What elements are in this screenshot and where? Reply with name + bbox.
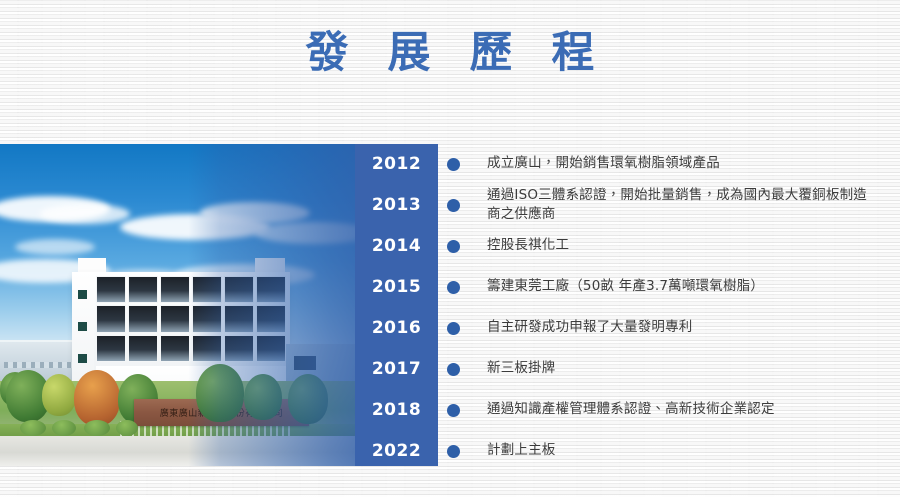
timeline-year: 2022: [355, 441, 438, 461]
bullet-dot-icon: [447, 363, 460, 376]
timeline-row-2015[interactable]: 2015 籌建東莞工廠（50畝 年產3.7萬噸環氧樹脂）: [355, 267, 900, 307]
timeline-year: 2012: [355, 154, 438, 174]
timeline-row-2012[interactable]: 2012 成立廣山，開始銷售環氧樹脂領域產品: [355, 144, 900, 184]
page-title-wrap: 發 展 歷 程: [0, 30, 900, 77]
bullet-dot-icon: [447, 445, 460, 458]
timeline-description: 成立廣山，開始銷售環氧樹脂領域產品: [487, 154, 720, 174]
bullet-dot-icon: [447, 158, 460, 171]
timeline-description: 控股長祺化工: [487, 236, 569, 256]
timeline-row-2017[interactable]: 2017 新三板掛牌: [355, 349, 900, 389]
timeline-row-2014[interactable]: 2014 控股長祺化工: [355, 226, 900, 266]
timeline-year: 2014: [355, 236, 438, 256]
timeline-row-2016[interactable]: 2016 自主研發成功申報了大量發明專利: [355, 308, 900, 348]
timeline-description: 通過知識產權管理體系認證、高新技術企業認定: [487, 400, 775, 420]
bullet-dot-icon: [447, 322, 460, 335]
timeline-row-2018[interactable]: 2018 通過知識產權管理體系認證、高新技術企業認定: [355, 390, 900, 430]
timeline-description: 新三板掛牌: [487, 359, 556, 379]
company-photo-panel: 廣東廣山新材料股份有限公司: [0, 144, 355, 466]
timeline-description: 通過ISO三體系認證，開始批量銷售，成為國內最大覆銅板制造 商之供應商: [487, 186, 867, 224]
timeline-row-2022[interactable]: 2022 計劃上主板: [355, 431, 900, 471]
timeline-description: 籌建東莞工廠（50畝 年產3.7萬噸環氧樹脂）: [487, 277, 764, 297]
timeline-year: 2015: [355, 277, 438, 297]
timeline-list: 2012 成立廣山，開始銷售環氧樹脂領域產品 2013 通過ISO三體系認證，開…: [355, 144, 900, 466]
slide-root: 發 展 歷 程: [0, 0, 900, 497]
bullet-dot-icon: [447, 240, 460, 253]
timeline-year: 2017: [355, 359, 438, 379]
timeline-year: 2018: [355, 400, 438, 420]
bullet-dot-icon: [447, 404, 460, 417]
photo-blue-overlay: [0, 144, 355, 466]
timeline-year: 2016: [355, 318, 438, 338]
timeline-row-2013[interactable]: 2013 通過ISO三體系認證，開始批量銷售，成為國內最大覆銅板制造 商之供應商: [355, 185, 900, 225]
timeline-description: 自主研發成功申報了大量發明專利: [487, 318, 693, 338]
bullet-dot-icon: [447, 199, 460, 212]
timeline-year: 2013: [355, 195, 438, 215]
bullet-dot-icon: [447, 281, 460, 294]
timeline-description: 計劃上主板: [487, 441, 556, 461]
page-title: 發 展 歷 程: [294, 30, 607, 77]
